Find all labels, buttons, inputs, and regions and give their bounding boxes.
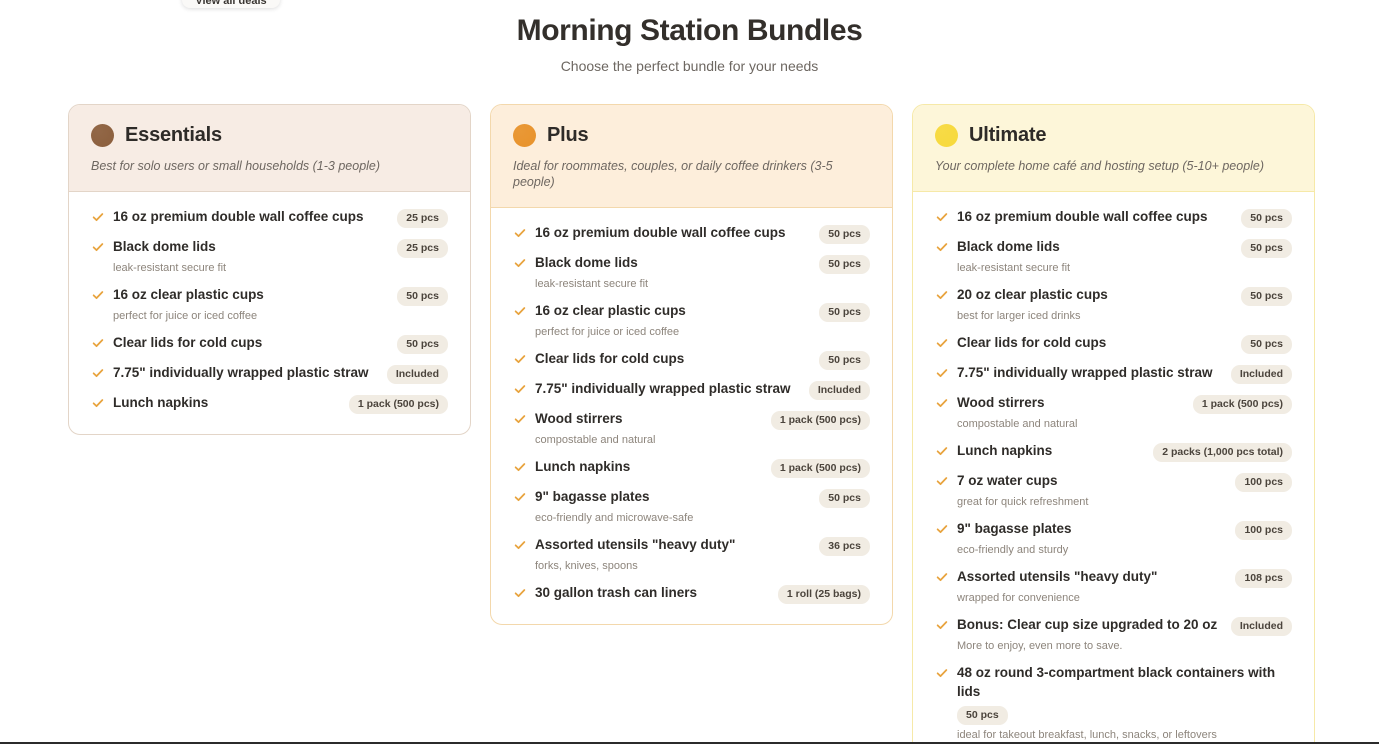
- bundle-item-row: Black dome lids50 pcs: [957, 237, 1292, 258]
- bundle-item: Clear lids for cold cups50 pcs: [935, 328, 1292, 358]
- bundle-item-quantity-badge: Included: [1231, 617, 1292, 636]
- bundle-item-name: 7 oz water cups: [957, 471, 1058, 490]
- bundle-item-content: Assorted utensils "heavy duty"108 pcswra…: [957, 567, 1292, 606]
- bundle-item: 20 oz clear plastic cups50 pcsbest for l…: [935, 280, 1292, 328]
- bundle-item-row: 16 oz premium double wall coffee cups25 …: [113, 207, 448, 228]
- card-header-plus: PlusIdeal for roommates, couples, or dai…: [491, 105, 892, 208]
- view-all-deals-chip[interactable]: View all deals: [182, 0, 280, 8]
- bundle-item-name: 7.75" individually wrapped plastic straw: [535, 379, 791, 398]
- bundle-item-row: Wood stirrers1 pack (500 pcs): [957, 393, 1292, 414]
- bundle-item-content: 9" bagasse plates50 pcseco-friendly and …: [535, 487, 870, 526]
- bundle-item-content: 16 oz clear plastic cups50 pcsperfect fo…: [113, 285, 448, 324]
- card-header-ultimate: UltimateYour complete home café and host…: [913, 105, 1314, 192]
- bundle-item-content: 16 oz premium double wall coffee cups50 …: [957, 207, 1292, 228]
- bundle-item-row: Clear lids for cold cups50 pcs: [957, 333, 1292, 354]
- bundle-item-content: 16 oz premium double wall coffee cups50 …: [535, 223, 870, 244]
- bundle-card-essentials[interactable]: EssentialsBest for solo users or small h…: [68, 104, 471, 435]
- bundle-item-name: Clear lids for cold cups: [535, 349, 684, 368]
- bundle-item-name: 9" bagasse plates: [535, 487, 649, 506]
- bundle-item-row: Black dome lids25 pcs: [113, 237, 448, 258]
- bundle-cards-container: EssentialsBest for solo users or small h…: [0, 76, 1379, 744]
- yellow-circle-icon: [935, 124, 958, 147]
- bundle-item-row: Lunch napkins1 pack (500 pcs): [535, 457, 870, 478]
- brown-circle-icon: [91, 124, 114, 147]
- card-item-list-ultimate: 16 oz premium double wall coffee cups50 …: [913, 192, 1314, 744]
- check-icon: [513, 490, 527, 504]
- bundle-item-quantity-badge: 50 pcs: [819, 225, 870, 244]
- bundle-item-name: Wood stirrers: [535, 409, 623, 428]
- bundle-item-content: Bonus: Clear cup size upgraded to 20 ozI…: [957, 615, 1292, 654]
- bundle-item: Lunch napkins1 pack (500 pcs): [513, 452, 870, 482]
- bundle-item-name: Wood stirrers: [957, 393, 1045, 412]
- bundle-item-row: Black dome lids50 pcs: [535, 253, 870, 274]
- check-icon: [513, 586, 527, 600]
- check-icon: [91, 240, 105, 254]
- bundle-item-row: Assorted utensils "heavy duty"108 pcs: [957, 567, 1292, 588]
- bundle-item-name: Assorted utensils "heavy duty": [957, 567, 1157, 586]
- bundle-item-quantity-badge: 100 pcs: [1235, 473, 1292, 492]
- check-icon: [513, 382, 527, 396]
- bundle-item-content: 9" bagasse plates100 pcseco-friendly and…: [957, 519, 1292, 558]
- bundle-card-plus[interactable]: PlusIdeal for roommates, couples, or dai…: [490, 104, 893, 625]
- bundle-item-quantity-badge: 50 pcs: [1241, 287, 1292, 306]
- bundle-item-content: Clear lids for cold cups50 pcs: [113, 333, 448, 354]
- bundle-item-row: 16 oz clear plastic cups50 pcs: [535, 301, 870, 322]
- bundle-item: Lunch napkins1 pack (500 pcs): [91, 388, 448, 418]
- bundle-item: 16 oz premium double wall coffee cups50 …: [513, 218, 870, 248]
- bundle-item-name: Black dome lids: [535, 253, 638, 272]
- bundle-item-row: 16 oz premium double wall coffee cups50 …: [957, 207, 1292, 228]
- bundle-item-quantity-badge: 50 pcs: [397, 335, 448, 354]
- check-icon: [935, 474, 949, 488]
- check-icon: [935, 288, 949, 302]
- bundle-item: Lunch napkins2 packs (1,000 pcs total): [935, 436, 1292, 466]
- bundle-item-content: 48 oz round 3-compartment black containe…: [957, 663, 1292, 743]
- bundle-item-quantity-badge: 50 pcs: [1241, 209, 1292, 228]
- bundle-item-content: Assorted utensils "heavy duty"36 pcsfork…: [535, 535, 870, 574]
- view-all-deals-label: View all deals: [195, 0, 266, 7]
- bundle-item-content: 16 oz premium double wall coffee cups25 …: [113, 207, 448, 228]
- page-title: Morning Station Bundles: [0, 12, 1379, 50]
- card-description: Your complete home café and hosting setu…: [935, 158, 1292, 174]
- bundle-card-ultimate[interactable]: UltimateYour complete home café and host…: [912, 104, 1315, 744]
- bundle-item: 30 gallon trash can liners1 roll (25 bag…: [513, 578, 870, 608]
- bundle-item: Assorted utensils "heavy duty"108 pcswra…: [935, 562, 1292, 610]
- check-icon: [513, 226, 527, 240]
- check-icon: [513, 304, 527, 318]
- bundle-item-quantity-badge: 50 pcs: [819, 489, 870, 508]
- bundle-item-row: Clear lids for cold cups50 pcs: [535, 349, 870, 370]
- bundle-item-subtext: compostable and natural: [957, 418, 1077, 430]
- bundle-item-name: Lunch napkins: [957, 441, 1052, 460]
- bundle-item-quantity-badge: 36 pcs: [819, 537, 870, 556]
- bundle-item-content: Black dome lids25 pcsleak-resistant secu…: [113, 237, 448, 276]
- card-title-row: Plus: [513, 124, 870, 147]
- bundle-item-name: 48 oz round 3-compartment black containe…: [957, 663, 1292, 701]
- bundle-item-row: 7.75" individually wrapped plastic straw…: [535, 379, 870, 400]
- bundle-item-name: Lunch napkins: [113, 393, 208, 412]
- card-title: Ultimate: [969, 124, 1046, 147]
- check-icon: [935, 240, 949, 254]
- bundle-item-row: Clear lids for cold cups50 pcs: [113, 333, 448, 354]
- bundle-item-name: Bonus: Clear cup size upgraded to 20 oz: [957, 615, 1217, 634]
- check-icon: [935, 666, 949, 680]
- bundle-item-name: 16 oz premium double wall coffee cups: [957, 207, 1208, 226]
- bundle-item-quantity-badge: 50 pcs: [1241, 335, 1292, 354]
- card-description: Ideal for roommates, couples, or daily c…: [513, 158, 870, 190]
- bundle-item-quantity-badge: 50 pcs: [819, 255, 870, 274]
- bundle-item-quantity-badge: Included: [809, 381, 870, 400]
- bundle-item-quantity-badge: 50 pcs: [1241, 239, 1292, 258]
- bundles-page: View all deals Morning Station Bundles C…: [0, 0, 1379, 744]
- bundle-item-row: Lunch napkins2 packs (1,000 pcs total): [957, 441, 1292, 462]
- bundle-item-name: 16 oz premium double wall coffee cups: [535, 223, 786, 242]
- bundle-item: Black dome lids50 pcsleak-resistant secu…: [935, 232, 1292, 280]
- bundle-item-name: Clear lids for cold cups: [113, 333, 262, 352]
- bundle-item: Wood stirrers1 pack (500 pcs)compostable…: [935, 388, 1292, 436]
- bundle-item-subtext: eco-friendly and sturdy: [957, 544, 1068, 556]
- bundle-item-quantity-badge: Included: [387, 365, 448, 384]
- check-icon: [513, 256, 527, 270]
- bundle-item-content: Lunch napkins2 packs (1,000 pcs total): [957, 441, 1292, 462]
- bundle-item-subtext: leak-resistant secure fit: [957, 262, 1070, 274]
- bundle-item-subtext: best for larger iced drinks: [957, 310, 1081, 322]
- check-icon: [935, 444, 949, 458]
- bundle-item-row: 9" bagasse plates100 pcs: [957, 519, 1292, 540]
- bundle-item-name: 16 oz premium double wall coffee cups: [113, 207, 364, 226]
- bundle-item-name: Black dome lids: [957, 237, 1060, 256]
- card-title-row: Essentials: [91, 124, 448, 147]
- check-icon: [513, 352, 527, 366]
- bundle-item-name: Lunch napkins: [535, 457, 630, 476]
- bundle-item-quantity-badge: 50 pcs: [819, 351, 870, 370]
- bundle-item: Black dome lids50 pcsleak-resistant secu…: [513, 248, 870, 296]
- bundle-item: 16 oz clear plastic cups50 pcsperfect fo…: [91, 280, 448, 328]
- bundle-item-content: Black dome lids50 pcsleak-resistant secu…: [957, 237, 1292, 276]
- check-icon: [91, 210, 105, 224]
- bundle-item: 16 oz clear plastic cups50 pcsperfect fo…: [513, 296, 870, 344]
- bundle-item-quantity-badge: 100 pcs: [1235, 521, 1292, 540]
- bundle-item-content: Lunch napkins1 pack (500 pcs): [535, 457, 870, 478]
- bundle-item-row: 9" bagasse plates50 pcs: [535, 487, 870, 508]
- bundle-item-content: Wood stirrers1 pack (500 pcs)compostable…: [535, 409, 870, 448]
- bundle-item: 16 oz premium double wall coffee cups25 …: [91, 202, 448, 232]
- card-title: Plus: [547, 124, 588, 147]
- bundle-item-content: Lunch napkins1 pack (500 pcs): [113, 393, 448, 414]
- card-item-list-essentials: 16 oz premium double wall coffee cups25 …: [69, 192, 470, 434]
- bundle-item-quantity-badge: 25 pcs: [397, 209, 448, 228]
- bundle-item-subtext: compostable and natural: [535, 434, 655, 446]
- bundle-item-name: 16 oz clear plastic cups: [535, 301, 686, 320]
- bundle-item-quantity-badge: 50 pcs: [819, 303, 870, 322]
- bundle-item-quantity-badge: 1 pack (500 pcs): [771, 411, 870, 430]
- bundle-item-content: Clear lids for cold cups50 pcs: [535, 349, 870, 370]
- page-header: Morning Station Bundles Choose the perfe…: [0, 0, 1379, 76]
- bundle-item-row: Bonus: Clear cup size upgraded to 20 ozI…: [957, 615, 1292, 636]
- bundle-item-row: Wood stirrers1 pack (500 pcs): [535, 409, 870, 430]
- bundle-item: Clear lids for cold cups50 pcs: [513, 344, 870, 374]
- bundle-item: 48 oz round 3-compartment black containe…: [935, 658, 1292, 744]
- bundle-item-quantity-badge: Included: [1231, 365, 1292, 384]
- bundle-item-quantity-badge: 1 pack (500 pcs): [1193, 395, 1292, 414]
- bundle-item: 9" bagasse plates100 pcseco-friendly and…: [935, 514, 1292, 562]
- check-icon: [935, 618, 949, 632]
- bundle-item-content: 20 oz clear plastic cups50 pcsbest for l…: [957, 285, 1292, 324]
- bundle-item-content: 30 gallon trash can liners1 roll (25 bag…: [535, 583, 870, 604]
- bundle-item-name: 7.75" individually wrapped plastic straw: [113, 363, 369, 382]
- bundle-item-content: Black dome lids50 pcsleak-resistant secu…: [535, 253, 870, 292]
- bundle-item-content: 7.75" individually wrapped plastic straw…: [113, 363, 448, 384]
- check-icon: [935, 336, 949, 350]
- bundle-item-content: 7.75" individually wrapped plastic straw…: [535, 379, 870, 400]
- bundle-item-content: 7 oz water cups100 pcsgreat for quick re…: [957, 471, 1292, 510]
- bundle-item-content: Wood stirrers1 pack (500 pcs)compostable…: [957, 393, 1292, 432]
- card-title-row: Ultimate: [935, 124, 1292, 147]
- bundle-item: 16 oz premium double wall coffee cups50 …: [935, 202, 1292, 232]
- check-icon: [513, 538, 527, 552]
- bundle-item-subtext: eco-friendly and microwave-safe: [535, 512, 693, 524]
- bundle-item-subtext: great for quick refreshment: [957, 496, 1088, 508]
- check-icon: [935, 522, 949, 536]
- bundle-item-quantity-badge: 1 pack (500 pcs): [771, 459, 870, 478]
- bundle-item: 7.75" individually wrapped plastic straw…: [513, 374, 870, 404]
- bundle-item-subtext: perfect for juice or iced coffee: [535, 326, 679, 338]
- bundle-item-name: Black dome lids: [113, 237, 216, 256]
- bundle-item-quantity-badge: 25 pcs: [397, 239, 448, 258]
- bundle-item-subtext: wrapped for convenience: [957, 592, 1080, 604]
- bundle-item-quantity-badge: 108 pcs: [1235, 569, 1292, 588]
- check-icon: [91, 396, 105, 410]
- bundle-item-quantity-badge: 1 pack (500 pcs): [349, 395, 448, 414]
- check-icon: [935, 396, 949, 410]
- bundle-item-subtext: leak-resistant secure fit: [113, 262, 226, 274]
- card-header-essentials: EssentialsBest for solo users or small h…: [69, 105, 470, 192]
- check-icon: [935, 210, 949, 224]
- check-icon: [513, 460, 527, 474]
- check-icon: [91, 288, 105, 302]
- bundle-item-subtext: More to enjoy, even more to save.: [957, 640, 1123, 652]
- bundle-item-name: 30 gallon trash can liners: [535, 583, 697, 602]
- bundle-item-quantity-badge: 50 pcs: [957, 706, 1008, 725]
- card-description: Best for solo users or small households …: [91, 158, 448, 174]
- bundle-item: Black dome lids25 pcsleak-resistant secu…: [91, 232, 448, 280]
- check-icon: [91, 336, 105, 350]
- bundle-item-name: Clear lids for cold cups: [957, 333, 1106, 352]
- bundle-item-row: Lunch napkins1 pack (500 pcs): [113, 393, 448, 414]
- bundle-item-row: 20 oz clear plastic cups50 pcs: [957, 285, 1292, 306]
- card-title: Essentials: [125, 124, 222, 147]
- bundle-item-row: Assorted utensils "heavy duty"36 pcs: [535, 535, 870, 556]
- bundle-item: 7 oz water cups100 pcsgreat for quick re…: [935, 466, 1292, 514]
- bundle-item-quantity-badge: 1 roll (25 bags): [778, 585, 870, 604]
- bundle-item-name: 20 oz clear plastic cups: [957, 285, 1108, 304]
- bundle-item-subtext: ideal for takeout breakfast, lunch, snac…: [957, 729, 1217, 741]
- page-subtitle: Choose the perfect bundle for your needs: [0, 56, 1379, 76]
- bundle-item-quantity-badge: 2 packs (1,000 pcs total): [1153, 443, 1292, 462]
- bundle-item: Bonus: Clear cup size upgraded to 20 ozI…: [935, 610, 1292, 658]
- bundle-item: Clear lids for cold cups50 pcs: [91, 328, 448, 358]
- bundle-item-row: 7 oz water cups100 pcs: [957, 471, 1292, 492]
- bundle-item: 9" bagasse plates50 pcseco-friendly and …: [513, 482, 870, 530]
- check-icon: [935, 366, 949, 380]
- check-icon: [91, 366, 105, 380]
- bundle-item: Assorted utensils "heavy duty"36 pcsfork…: [513, 530, 870, 578]
- bundle-item-subtext: forks, knives, spoons: [535, 560, 638, 572]
- bundle-item: 7.75" individually wrapped plastic straw…: [935, 358, 1292, 388]
- bundle-item-row: 30 gallon trash can liners1 roll (25 bag…: [535, 583, 870, 604]
- bundle-item-name: 16 oz clear plastic cups: [113, 285, 264, 304]
- bundle-item-quantity-badge: 50 pcs: [397, 287, 448, 306]
- bundle-item-content: 16 oz clear plastic cups50 pcsperfect fo…: [535, 301, 870, 340]
- bundle-item-row: 16 oz premium double wall coffee cups50 …: [535, 223, 870, 244]
- check-icon: [513, 412, 527, 426]
- bundle-item-name: 7.75" individually wrapped plastic straw: [957, 363, 1213, 382]
- bundle-item-name: Assorted utensils "heavy duty": [535, 535, 735, 554]
- bundle-item: 7.75" individually wrapped plastic straw…: [91, 358, 448, 388]
- bundle-item-subtext: perfect for juice or iced coffee: [113, 310, 257, 322]
- bundle-item-row: 7.75" individually wrapped plastic straw…: [957, 363, 1292, 384]
- bundle-item-content: Clear lids for cold cups50 pcs: [957, 333, 1292, 354]
- bundle-item-row: 48 oz round 3-compartment black containe…: [957, 663, 1292, 725]
- bundle-item-name: 9" bagasse plates: [957, 519, 1071, 538]
- bundle-item-subtext: leak-resistant secure fit: [535, 278, 648, 290]
- bundle-item: Wood stirrers1 pack (500 pcs)compostable…: [513, 404, 870, 452]
- orange-circle-icon: [513, 124, 536, 147]
- bundle-item-row: 7.75" individually wrapped plastic straw…: [113, 363, 448, 384]
- bundle-item-row: 16 oz clear plastic cups50 pcs: [113, 285, 448, 306]
- bundle-item-content: 7.75" individually wrapped plastic straw…: [957, 363, 1292, 384]
- card-item-list-plus: 16 oz premium double wall coffee cups50 …: [491, 208, 892, 624]
- check-icon: [935, 570, 949, 584]
